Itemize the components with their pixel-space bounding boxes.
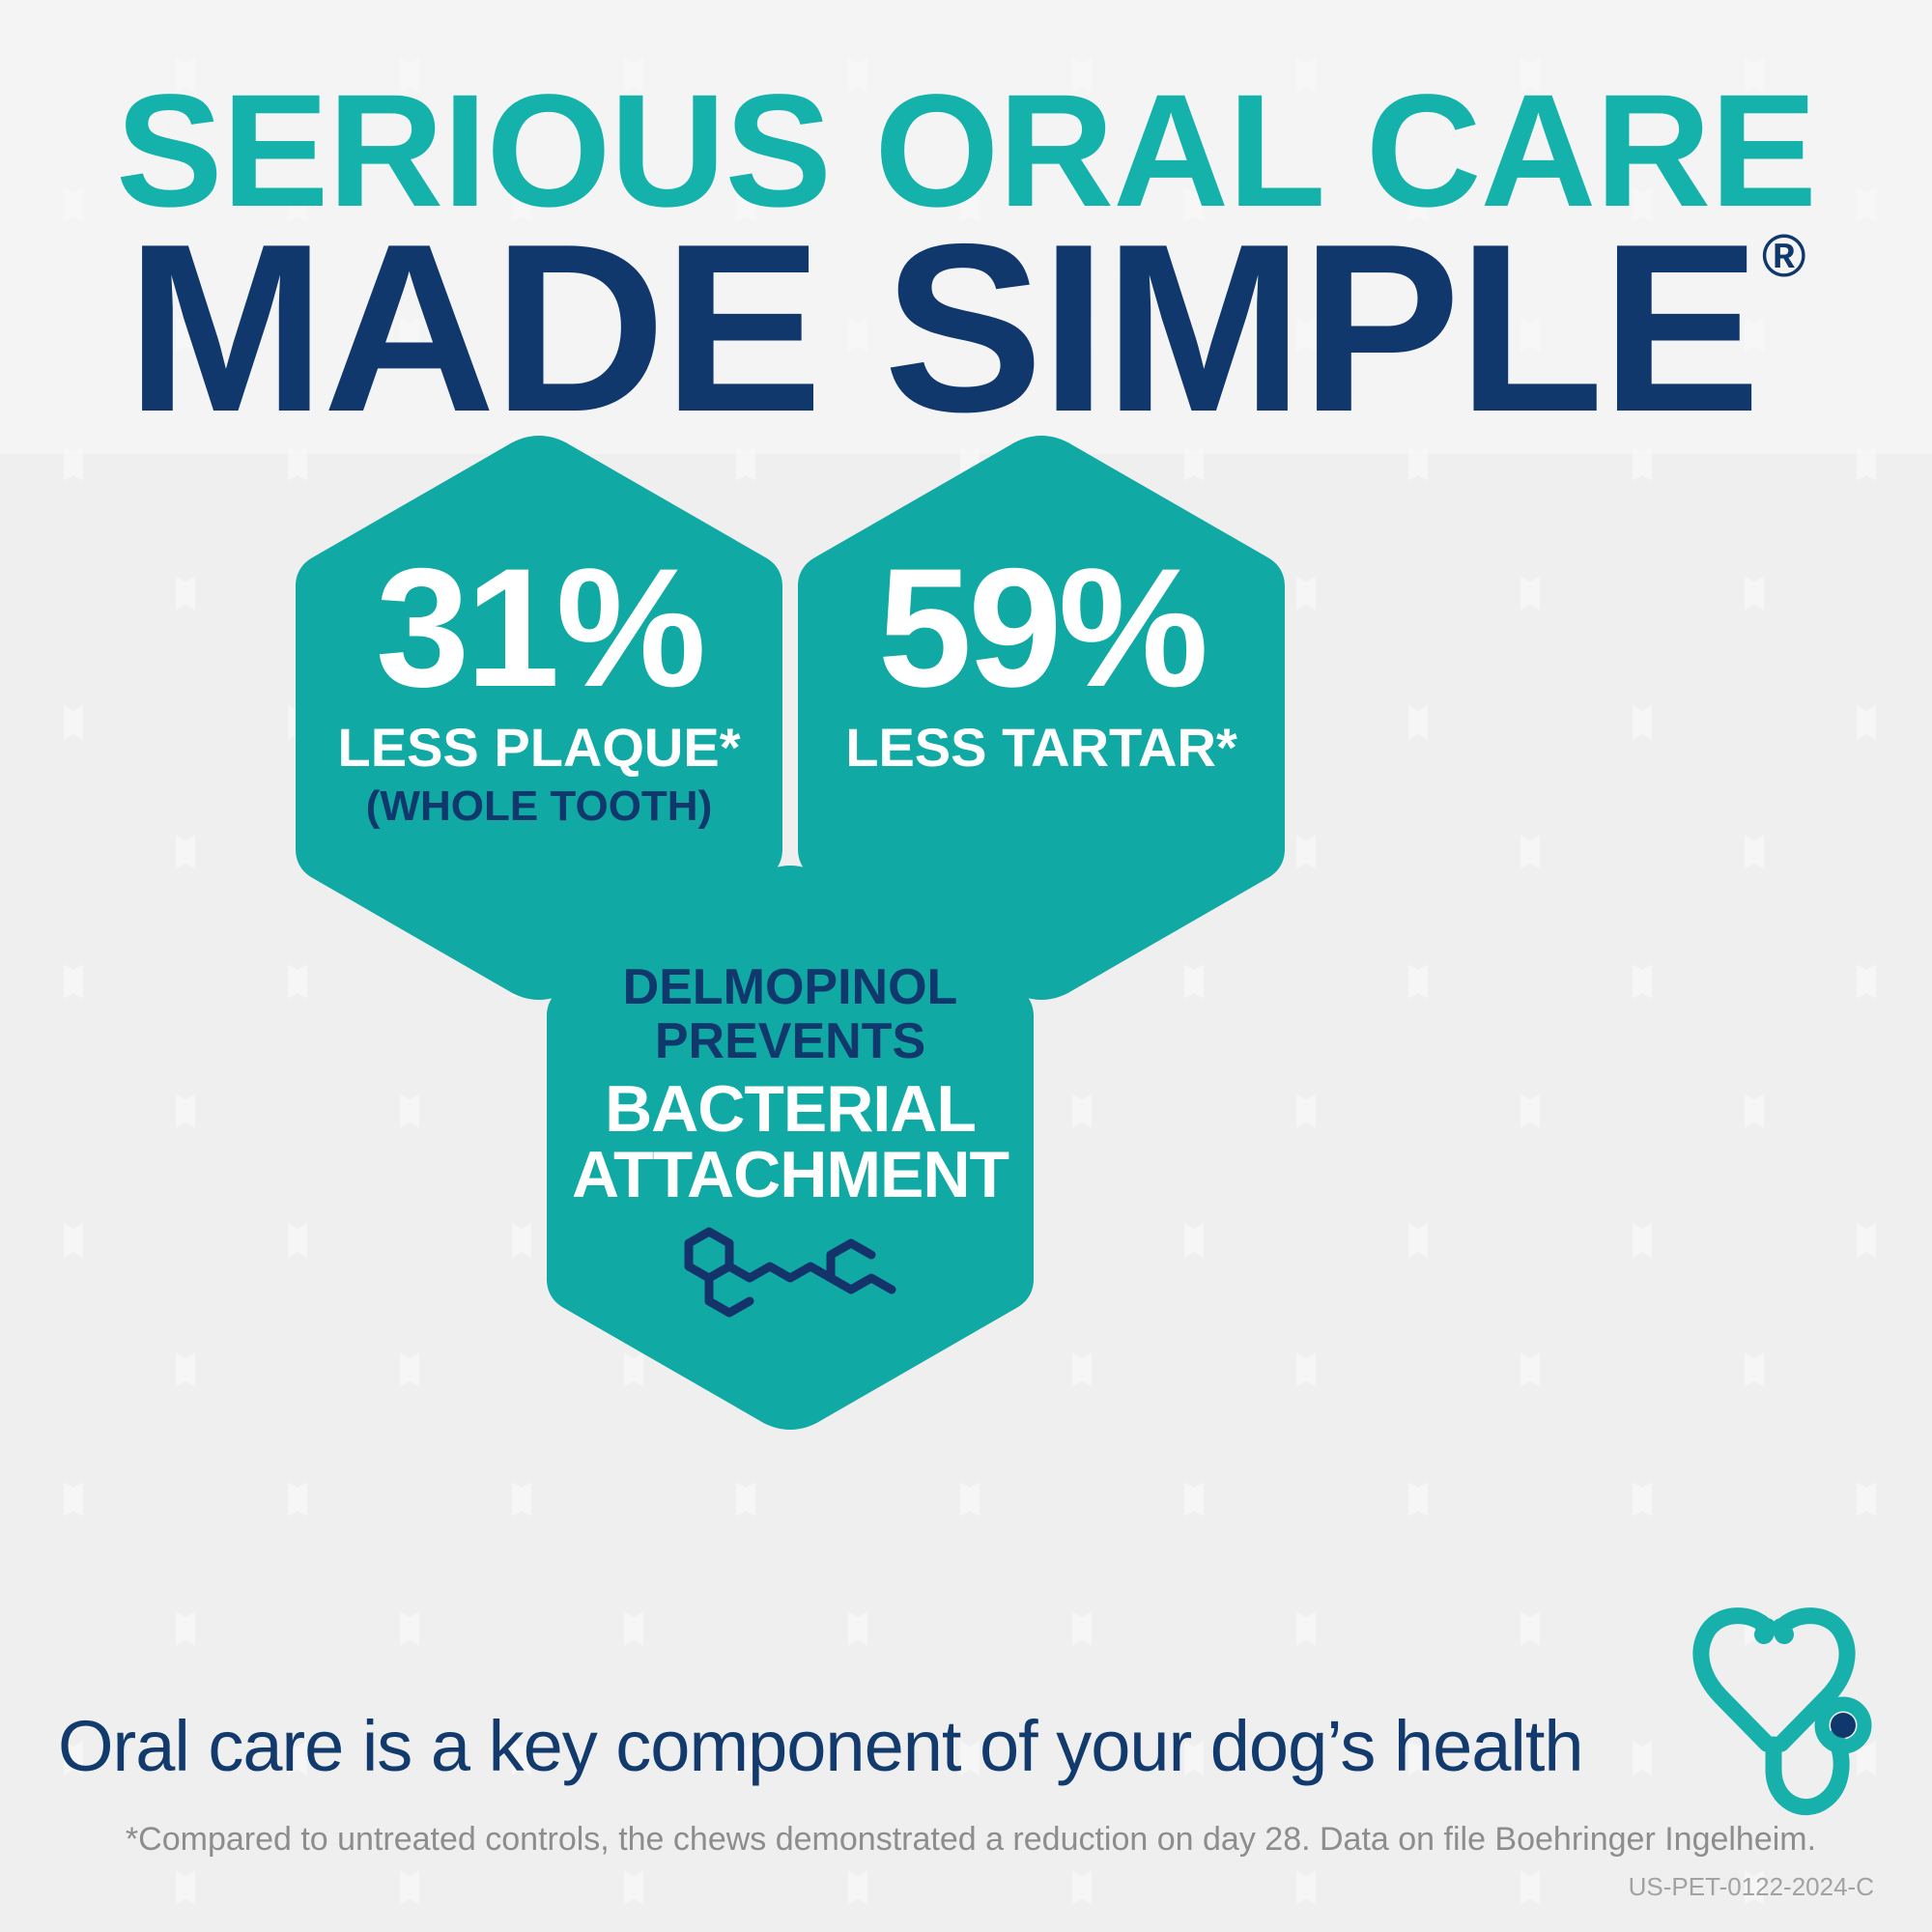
tagline-text: Oral care is a key component of your dog… xyxy=(58,1708,1583,1785)
footnote-text: *Compared to untreated controls, the che… xyxy=(58,1820,1884,1859)
badge-plaque-label: LESS PLAQUE* xyxy=(288,719,790,777)
headline-line-2-wrapper: MADE SIMPLE® xyxy=(0,208,1932,447)
molecule-icon xyxy=(663,1225,920,1318)
badge-tartar-value: 59% xyxy=(790,544,1293,713)
badge-tartar-label: LESS TARTAR* xyxy=(790,719,1293,777)
badge-plaque-sublabel: (WHOLE TOOTH) xyxy=(288,783,790,830)
infographic-canvas: SERIOUS ORAL CARE MADE SIMPLE® 31% LESS … xyxy=(0,0,1932,1932)
stethoscope-chestpiece-dot xyxy=(1831,1713,1856,1738)
badge-delmopinol-white-line-2: ATTACHMENT xyxy=(539,1142,1041,1207)
stethoscope-heart-icon xyxy=(1667,1604,1899,1826)
badge-delmopinol: DELMOPINOL PREVENTS BACTERIAL ATTACHMENT xyxy=(539,858,1041,1437)
registered-trademark-icon: ® xyxy=(1762,227,1806,287)
headline-line-2: MADE SIMPLE xyxy=(126,208,1757,447)
badge-plaque-value: 31% xyxy=(288,544,790,713)
badge-delmopinol-navy-line-1: DELMOPINOL xyxy=(539,960,1041,1014)
document-code: US-PET-0122-2024-C xyxy=(1629,1872,1874,1901)
badge-delmopinol-navy-line-2: PREVENTS xyxy=(539,1014,1041,1068)
badge-delmopinol-white-line-1: BACTERIAL xyxy=(539,1076,1041,1142)
